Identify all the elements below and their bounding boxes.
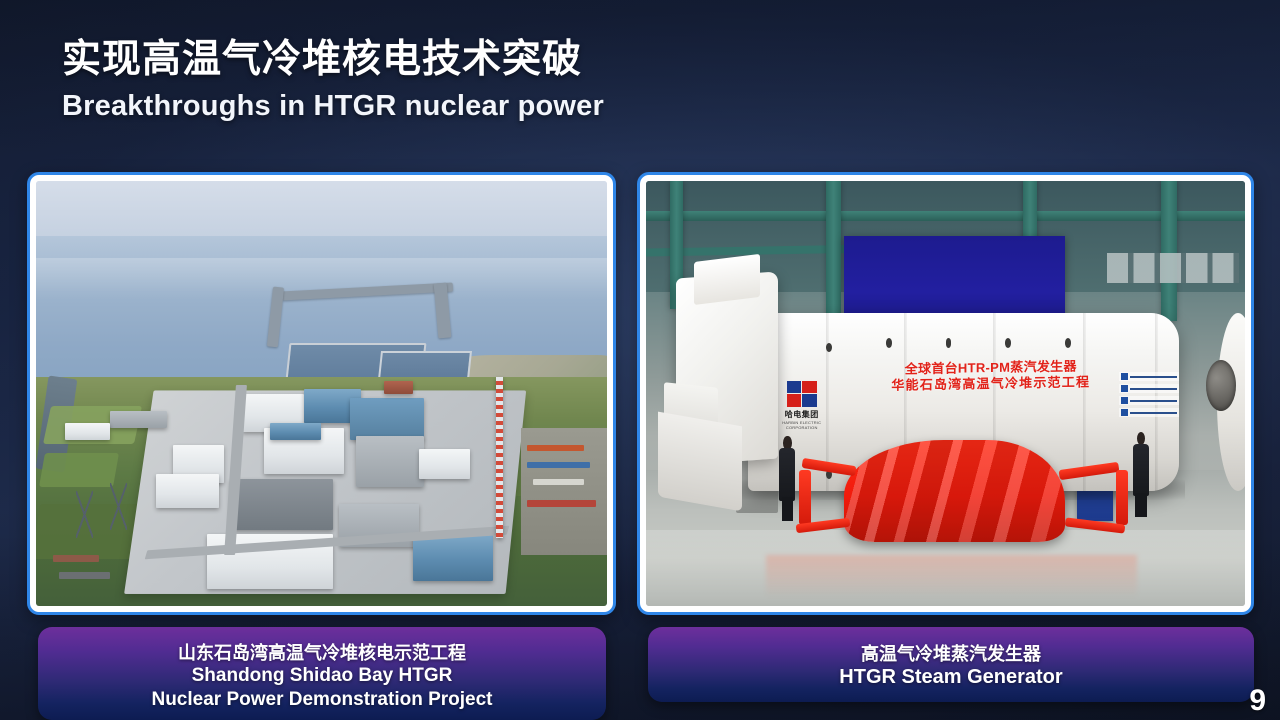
yard-crate	[527, 500, 596, 507]
red-ribbon	[1116, 470, 1128, 525]
vessel-bolt-icon	[826, 343, 832, 352]
photo-shidao-bay-aerial	[36, 181, 607, 606]
roof-truss-column	[1161, 181, 1177, 321]
red-unveiling-cloth	[844, 440, 1066, 542]
plant-building	[356, 436, 425, 487]
slide: 实现高温气冷堆核电技术突破 Breakthroughs in HTGR nucl…	[0, 0, 1280, 720]
vessel-bolt-icon	[946, 338, 952, 347]
plant-building	[65, 423, 111, 440]
he-logo-label-cn: 哈电集团	[769, 409, 835, 420]
vessel-head-top	[694, 253, 760, 304]
plant-building	[270, 423, 321, 440]
page-title-cn: 实现高温气冷堆核电技术突破	[62, 38, 604, 83]
caption-left-en-line2: Nuclear Power Demonstration Project	[151, 688, 492, 712]
page-number: 9	[1249, 684, 1266, 718]
plant-building	[230, 479, 333, 530]
plant-building	[110, 411, 167, 428]
plant-building	[413, 534, 493, 581]
image-frame-left	[27, 172, 616, 615]
person-legs	[782, 497, 793, 521]
image-frame-right: 哈电集团 HARBIN ELECTRIC CORPORATION 全球首台HTR…	[637, 172, 1254, 615]
yard-crate	[59, 572, 110, 579]
vessel-weld-seam	[1083, 313, 1086, 492]
vessel-nozzle-icon	[1206, 360, 1236, 411]
workshop-window-strip	[1107, 253, 1239, 283]
page-title-en: Breakthroughs in HTGR nuclear power	[62, 90, 604, 123]
vessel-head-skirt	[658, 412, 742, 512]
photo-steam-generator: 哈电集团 HARBIN ELECTRIC CORPORATION 全球首台HTR…	[646, 181, 1245, 606]
person-body	[779, 448, 795, 501]
he-logo-mark-icon	[787, 381, 817, 407]
vessel-bolt-icon	[886, 338, 892, 347]
caption-left-en-line1: Shandong Shidao Bay HTGR	[192, 664, 453, 688]
partner-logo-icon	[1119, 384, 1179, 393]
plant-building	[350, 398, 424, 441]
transmission-pylon-icon	[76, 491, 93, 538]
sky-region	[36, 181, 607, 241]
caption-left-cn: 山东石岛湾高温气冷堆核电示范工程	[178, 642, 466, 664]
person-legs	[1135, 493, 1146, 517]
yard-crate	[527, 462, 590, 469]
title-block: 实现高温气冷堆核电技术突破 Breakthroughs in HTGR nucl…	[62, 38, 604, 123]
plant-building	[384, 381, 413, 394]
partner-logos-group	[1119, 372, 1179, 420]
partner-logo-icon	[1119, 408, 1179, 417]
caption-right-cn: 高温气冷堆蒸汽发生器	[861, 643, 1041, 665]
he-logo-label-en: HARBIN ELECTRIC CORPORATION	[769, 420, 835, 430]
field-plot	[39, 453, 119, 487]
caption-right-en-line1: HTGR Steam Generator	[839, 665, 1062, 690]
yard-crate	[527, 445, 584, 452]
partner-logo-icon	[1119, 396, 1179, 405]
yard-crate	[53, 555, 99, 562]
person-body	[1133, 444, 1149, 497]
construction-crane-icon	[496, 377, 503, 539]
plant-building	[419, 449, 470, 479]
vessel-slogan-overlay: 全球首台HTR-PM蒸汽发生器 华能石岛湾高温气冷堆示范工程	[850, 357, 1132, 394]
roof-beam	[646, 211, 1245, 221]
person-figure	[1131, 432, 1150, 517]
floor-reflection	[766, 555, 1137, 598]
red-ribbon	[799, 470, 811, 525]
caption-right: 高温气冷堆蒸汽发生器 HTGR Steam Generator	[648, 627, 1254, 702]
person-figure	[778, 436, 797, 521]
harbin-electric-logo: 哈电集团 HARBIN ELECTRIC CORPORATION	[769, 381, 835, 430]
plant-building	[156, 474, 219, 508]
caption-left: 山东石岛湾高温气冷堆核电示范工程 Shandong Shidao Bay HTG…	[38, 627, 606, 720]
transmission-pylon-icon	[110, 483, 127, 530]
partner-logo-icon	[1119, 372, 1179, 381]
roof-truss-column	[826, 181, 841, 326]
yard-crate	[533, 479, 584, 486]
